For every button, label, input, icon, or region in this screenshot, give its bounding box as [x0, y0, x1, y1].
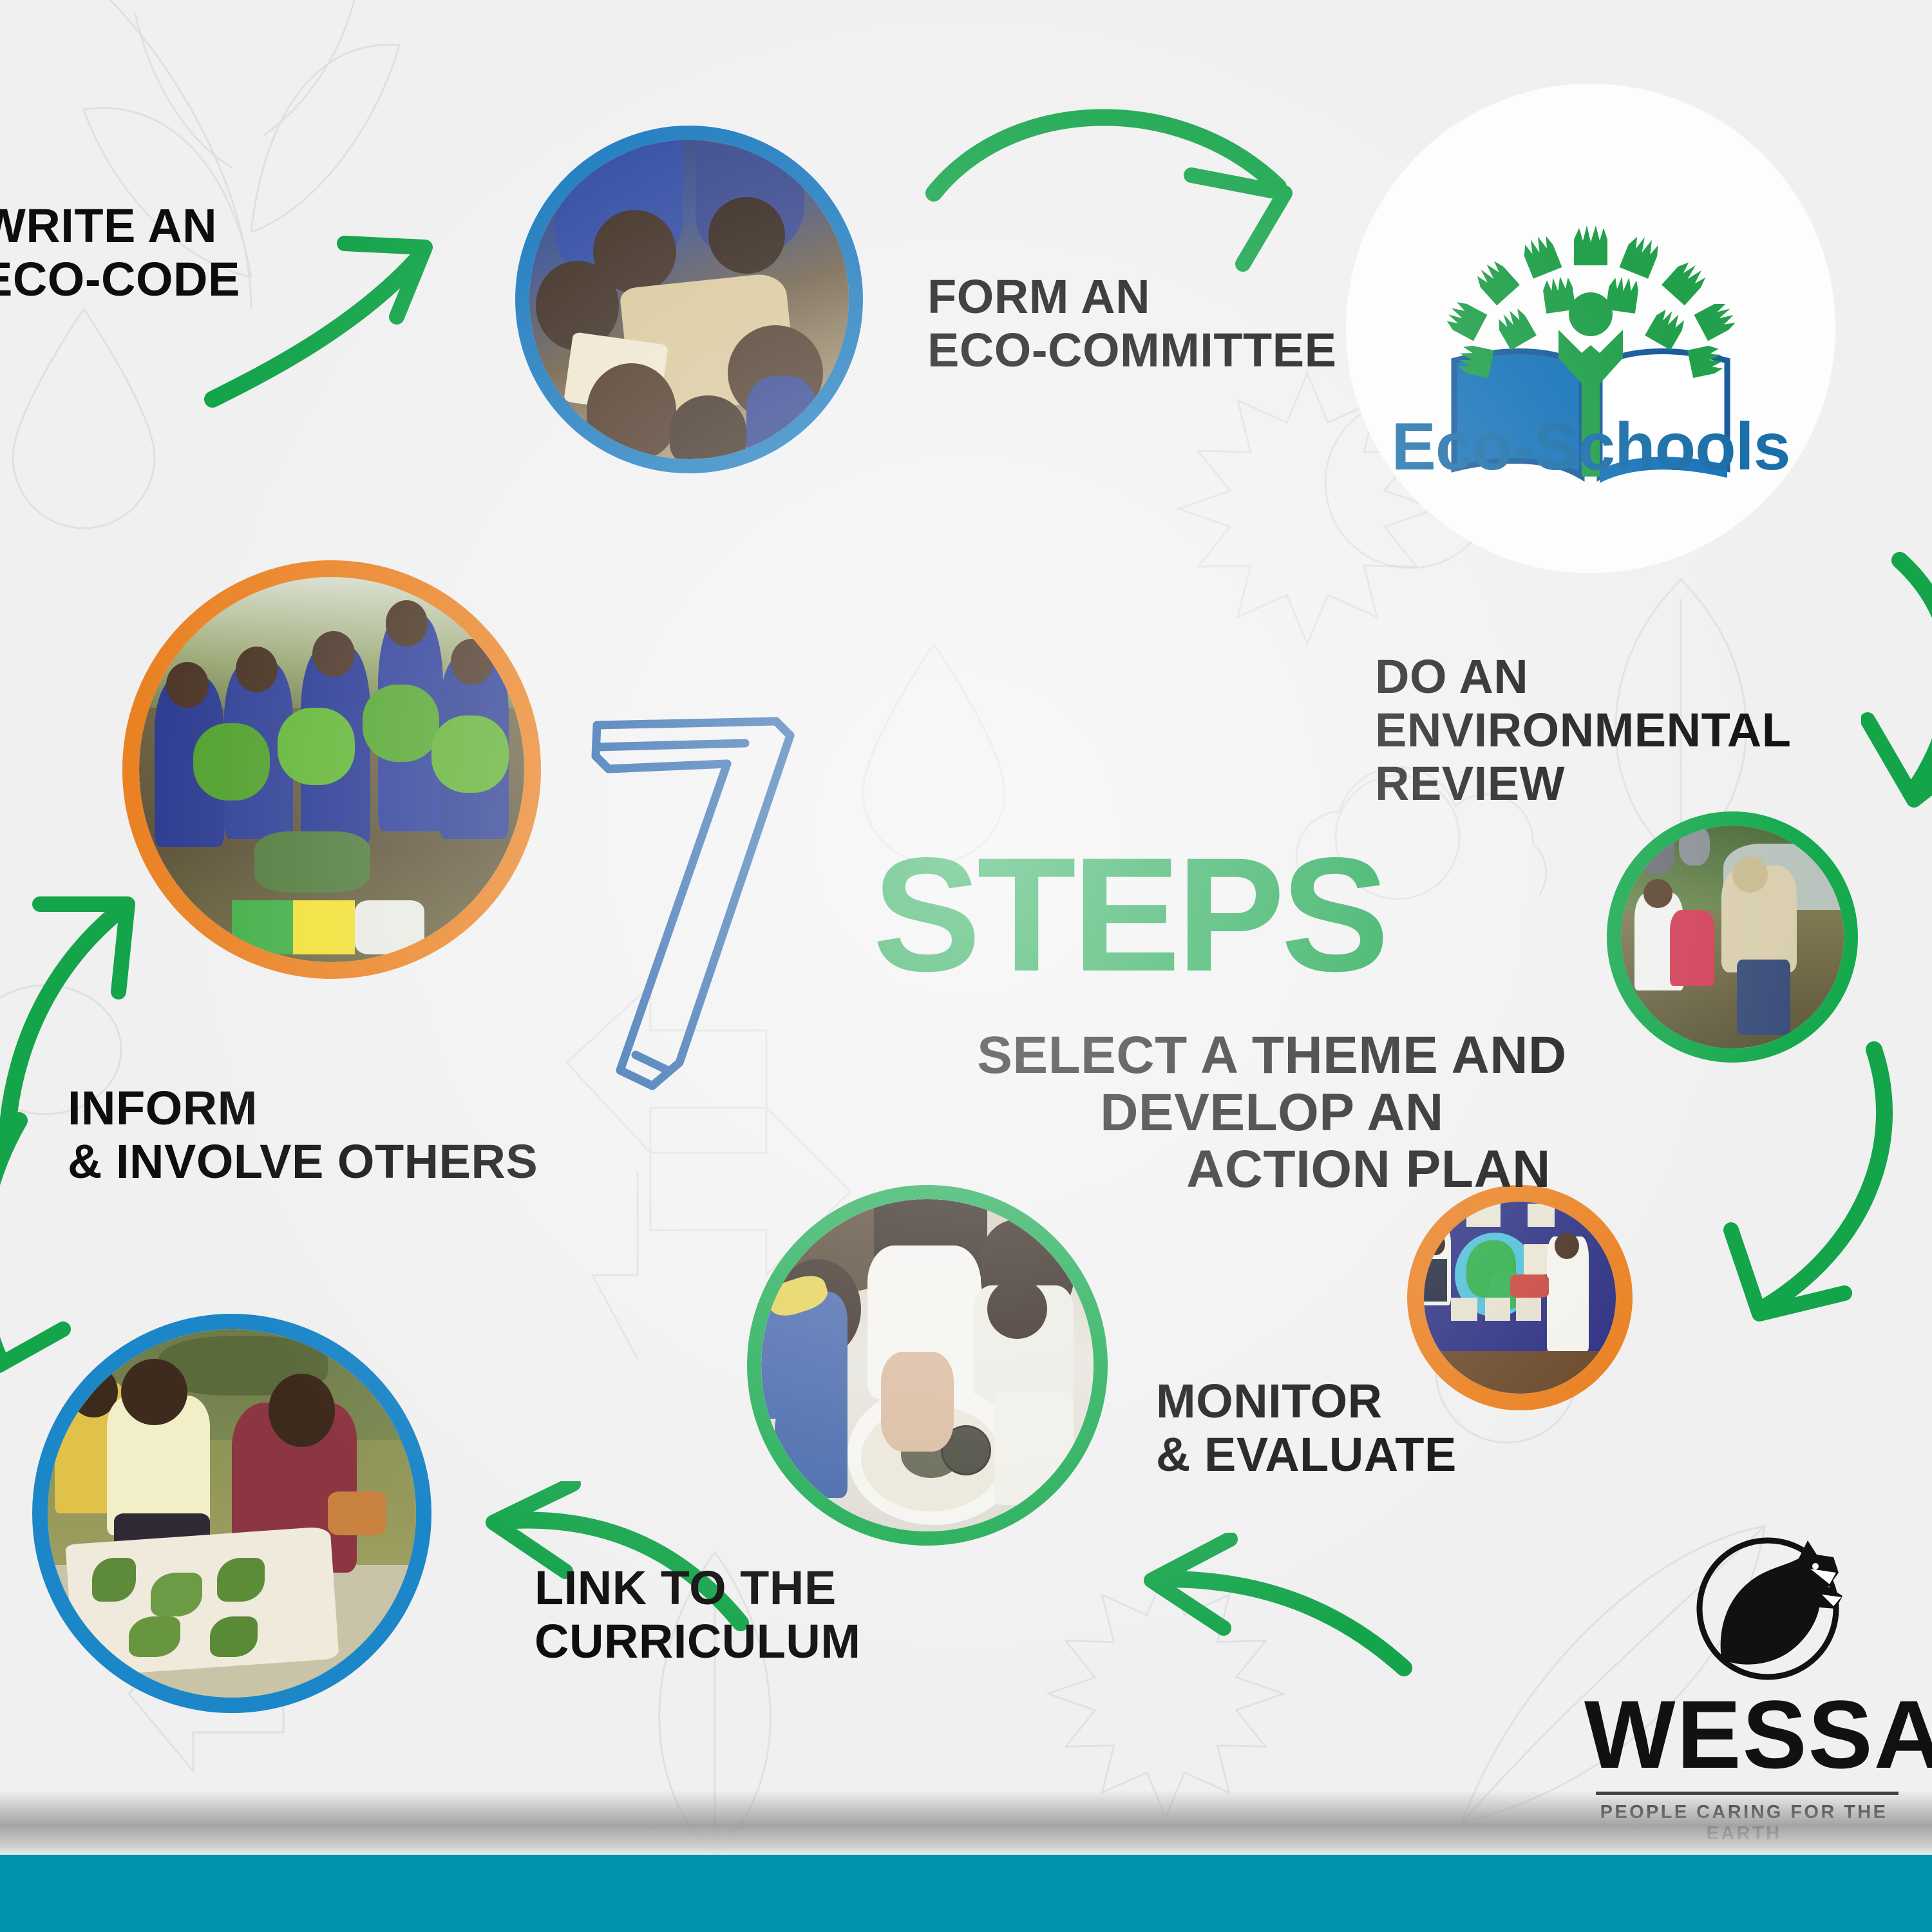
card-bottom-shadow — [0, 1790, 1932, 1855]
footer-teal-bar — [0, 1855, 1932, 1932]
steps-subtitle-line2: ACTION PLAN — [857, 1141, 1687, 1198]
step-label-environmental-review: DO AN ENVIRONMENTAL REVIEW — [1375, 650, 1791, 811]
flow-arrow-to-monitor-evaluate — [1713, 1037, 1913, 1333]
poster-root: WRITE AN ECO-CODE FORM AN ECO-COMMITTEE … — [0, 0, 1932, 1932]
steps-subtitle-line1: SELECT A THEME AND DEVELOP AN — [977, 1026, 1567, 1142]
step-label-link-curriculum: LINK TO THE CURRICULUM — [535, 1562, 861, 1669]
water-droplet-outline-watermark — [0, 296, 180, 541]
steps-subtitle: SELECT A THEME AND DEVELOP AN ACTION PLA… — [857, 1027, 1687, 1198]
photo-node-school-garden — [122, 560, 541, 979]
photo-children-around-desk — [529, 140, 849, 459]
step-label-form-eco-committee: FORM AN ECO-COMMITTEE — [927, 270, 1336, 377]
step-label-monitor-evaluate: MONITOR & EVALUATE — [1156, 1375, 1457, 1482]
sun-burst-outline-watermark — [1030, 1558, 1301, 1829]
flow-arrow-to-environmental-review — [921, 103, 1314, 296]
photo-learners-with-leafy-greens — [139, 577, 524, 962]
eco-schools-wordmark: Eco-Schools — [1346, 409, 1835, 486]
steps-wordmark: STEPS — [873, 834, 1385, 996]
photo-boys-with-leaf-poster — [48, 1329, 416, 1698]
flow-arrow-right-descend — [1861, 547, 1932, 818]
photo-water-testing-at-river — [1621, 826, 1844, 1048]
photo-node-inform-involve — [32, 1314, 431, 1713]
wessa-logo: WESSA PEOPLE CARING FOR THE EARTH — [1623, 1539, 1913, 1810]
numeral-seven-graphic — [583, 702, 885, 1095]
flow-arrow-to-curriculum — [1133, 1533, 1417, 1700]
photo-node-environmental-review — [1607, 811, 1858, 1063]
photo-children-with-specimen-tray — [761, 1199, 1094, 1531]
eco-schools-logo: Eco-Schools — [1346, 84, 1835, 573]
wessa-wordmark: WESSA — [1584, 1686, 1913, 1783]
step-label-inform-involve: INFORM & INVOLVE OTHERS — [68, 1082, 538, 1189]
photo-node-link-curriculum — [747, 1185, 1108, 1546]
step-label-write-eco-code: WRITE AN ECO-CODE — [0, 200, 240, 307]
infographic-canvas: WRITE AN ECO-CODE FORM AN ECO-COMMITTEE … — [0, 0, 1932, 1855]
photo-display-board-with-globe — [1424, 1202, 1616, 1394]
photo-node-eco-committee — [515, 126, 863, 473]
